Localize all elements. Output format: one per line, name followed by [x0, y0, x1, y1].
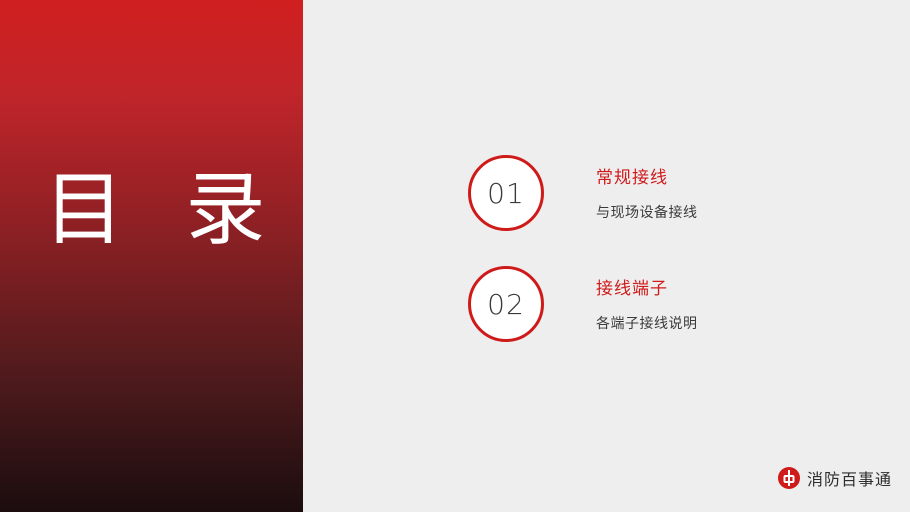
content-panel: 01 常规接线 与现场设备接线 02 接线端子 各端子接线说明 消防百事通: [303, 0, 910, 512]
brand-logo: 消防百事通: [778, 466, 892, 490]
toc-heading-01: 常规接线: [596, 163, 698, 188]
toc-text-block-01: 常规接线 与现场设备接线: [596, 163, 698, 222]
toc-number-01: 01: [487, 177, 525, 210]
toc-subtitle-02: 各端子接线说明: [596, 313, 698, 333]
toc-subtitle-01: 与现场设备接线: [596, 202, 698, 222]
fire-extinguisher-icon: [778, 467, 800, 489]
page-title: 目 录: [44, 170, 274, 250]
presentation-slide: 目 录 01 常规接线 与现场设备接线 02 接线端子 各端子接线说明: [0, 0, 910, 512]
toc-text-block-02: 接线端子 各端子接线说明: [596, 274, 698, 333]
toc-number-badge-01: 01: [468, 155, 544, 231]
toc-number-02: 02: [487, 288, 525, 321]
toc-entry-02[interactable]: 02 接线端子 各端子接线说明: [468, 266, 868, 352]
toc-heading-02: 接线端子: [596, 274, 698, 299]
toc-entry-01[interactable]: 01 常规接线 与现场设备接线: [468, 155, 868, 241]
left-gradient-panel: 目 录: [0, 0, 303, 512]
toc-number-badge-02: 02: [468, 266, 544, 342]
table-of-contents: 01 常规接线 与现场设备接线 02 接线端子 各端子接线说明: [468, 155, 868, 377]
brand-name: 消防百事通: [807, 466, 892, 490]
